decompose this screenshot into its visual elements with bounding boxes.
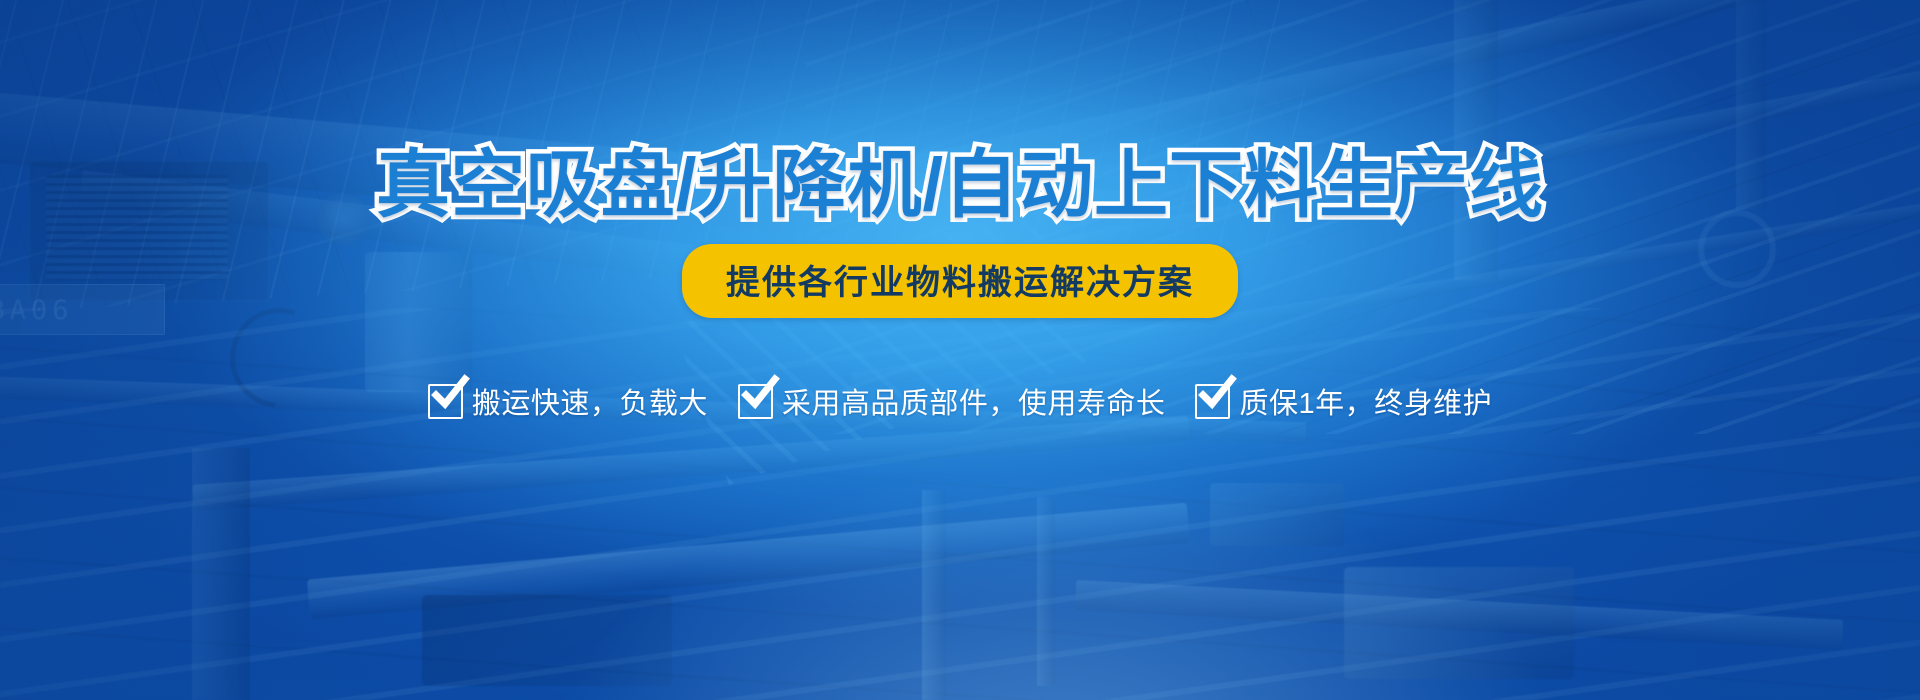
feature-item-2: 采用高品质部件，使用寿命长 — [738, 380, 1166, 422]
feature-label-1: 搬运快速，负载大 — [472, 380, 708, 422]
check-square-icon — [738, 384, 773, 419]
promo-banner: BA06 真空吸盘/升降机/自动上下料生产线 提供各行业物料搬运解决方案 — [0, 0, 1920, 700]
feature-label-2: 采用高品质部件，使用寿命长 — [782, 380, 1166, 422]
banner-subtitle-badge: 提供各行业物料搬运解决方案 — [682, 244, 1238, 318]
banner-title: 真空吸盘/升降机/自动上下料生产线 — [376, 148, 1544, 222]
feature-list: 搬运快速，负载大 采用高品质部件，使用寿命长 质保1年，终身维护 — [428, 380, 1492, 422]
check-square-icon — [1195, 384, 1230, 419]
feature-item-1: 搬运快速，负载大 — [428, 380, 708, 422]
banner-content: 真空吸盘/升降机/自动上下料生产线 提供各行业物料搬运解决方案 搬运快速，负载大… — [0, 0, 1920, 700]
feature-label-3: 质保1年，终身维护 — [1239, 380, 1492, 422]
check-square-icon — [428, 384, 463, 419]
feature-item-3: 质保1年，终身维护 — [1195, 380, 1492, 422]
